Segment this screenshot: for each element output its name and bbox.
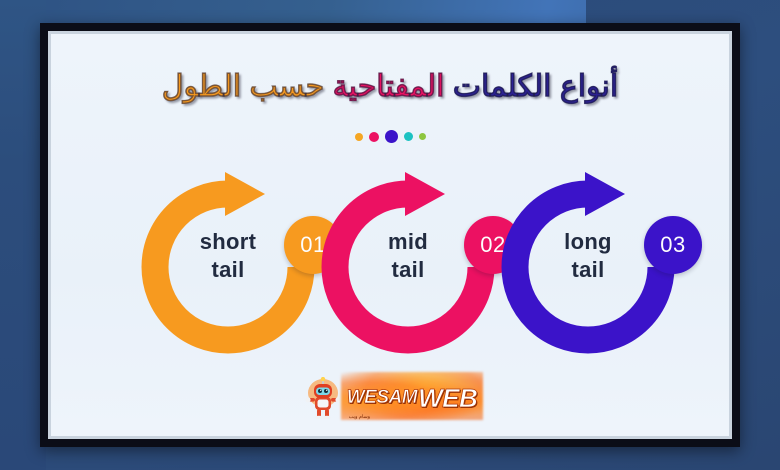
step-3-badge: 03 (644, 216, 702, 274)
dot-1 (355, 133, 363, 141)
poster-frame: أنواع الكلمات المفتاحية حسب الطول (40, 23, 740, 447)
logo-subtitle: وسام ويب (349, 414, 370, 420)
title-segment-3: حسب الطول (162, 70, 324, 103)
step-2-label: mid tail (339, 228, 477, 284)
step-1-label: short tail (159, 228, 297, 284)
step-mid-tail[interactable]: mid tail 02 (313, 172, 503, 362)
dot-4 (404, 132, 413, 141)
title-segment-1: أنواع الكلمات (444, 70, 618, 103)
step-short-tail[interactable]: short tail 01 (133, 172, 323, 362)
decorative-dot-row (51, 130, 729, 143)
page-title: أنواع الكلمات المفتاحية حسب الطول (51, 68, 729, 106)
robot-mascot-icon (303, 377, 343, 419)
step-3-line1: long (519, 228, 657, 256)
infographic-canvas: أنواع الكلمات المفتاحية حسب الطول (0, 0, 780, 470)
dot-2 (369, 132, 379, 142)
step-3-label: long tail (519, 228, 657, 284)
dot-3 (385, 130, 398, 143)
dot-5 (419, 133, 426, 140)
step-3-line2: tail (519, 256, 657, 284)
step-2-line1: mid (339, 228, 477, 256)
steps-row: short tail 01 mid tail (51, 172, 729, 372)
site-logo[interactable]: WESAM WEB وسام ويب (51, 376, 729, 420)
step-long-tail[interactable]: long tail 03 (493, 172, 683, 362)
step-1-line2: tail (159, 256, 297, 284)
step-1-line1: short (159, 228, 297, 256)
poster-panel: أنواع الكلمات المفتاحية حسب الطول (51, 34, 729, 436)
logo-word-1: WESAM (347, 387, 417, 409)
logo-word-2: WEB (418, 383, 477, 414)
logo-wordmark: WESAM WEB وسام ويب (347, 378, 478, 418)
step-3-number: 03 (660, 232, 685, 258)
step-2-line2: tail (339, 256, 477, 284)
title-segment-2: المفتاحية (324, 70, 444, 103)
